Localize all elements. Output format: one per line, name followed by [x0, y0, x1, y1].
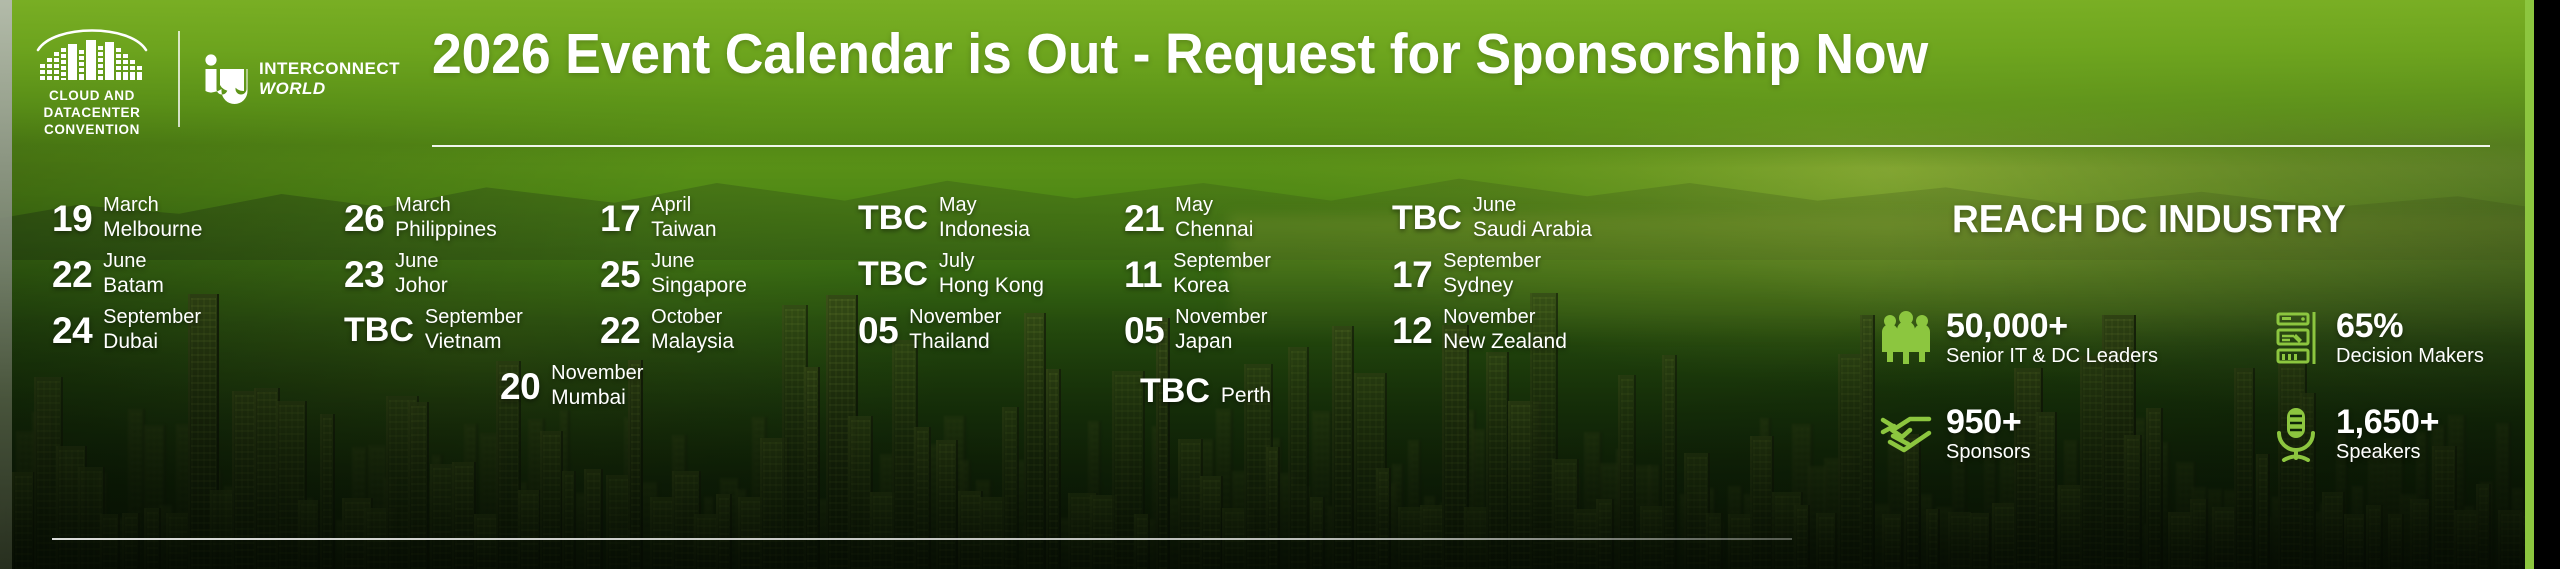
cdc-logo-line-3: CONVENTION: [44, 121, 141, 138]
event-month: June: [651, 250, 747, 274]
event-location: Korea: [1173, 274, 1271, 299]
page-title: 2026 Event Calendar is Out - Request for…: [432, 24, 2367, 84]
stat-item[interactable]: 950+Sponsors: [1880, 404, 2270, 464]
event-day: 20: [500, 368, 540, 405]
event-day: TBC: [1140, 374, 1210, 408]
event-month: July: [939, 250, 1044, 274]
stat-row: 50,000+Senior IT & DC Leaders65%Decision…: [1880, 308, 2540, 368]
event-month: April: [651, 194, 716, 218]
stat-text: 1,650+Speakers: [2336, 404, 2439, 464]
headline-underline: [432, 145, 2490, 147]
stat-value: 65%: [2336, 308, 2484, 344]
event-location: Malaysia: [651, 330, 734, 355]
event-day: 25: [600, 256, 640, 293]
event-entry[interactable]: 21MayChennai: [1124, 194, 1253, 242]
reach-heading: REACH DC INDUSTRY: [1952, 198, 2346, 242]
event-meta: JuneSaudi Arabia: [1473, 194, 1592, 242]
event-entry[interactable]: TBCPerth: [1140, 374, 1271, 409]
event-entry[interactable]: TBCMayIndonesia: [858, 194, 1030, 242]
event-entry[interactable]: 22OctoberMalaysia: [600, 306, 734, 354]
event-location: New Zealand: [1443, 330, 1567, 355]
event-day: TBC: [344, 313, 414, 347]
event-location: Perth: [1221, 384, 1271, 409]
event-meta: NovemberJapan: [1175, 306, 1267, 354]
event-meta: MayIndonesia: [939, 194, 1030, 242]
event-day: TBC: [1392, 201, 1462, 235]
event-meta: MayChennai: [1175, 194, 1253, 242]
event-month: November: [551, 362, 643, 386]
event-location: Saudi Arabia: [1473, 218, 1592, 243]
stat-label: Speakers: [2336, 440, 2439, 464]
event-month: November: [1443, 306, 1567, 330]
datacenter-skyline-icon: [32, 20, 152, 82]
event-meta: MarchMelbourne: [103, 194, 202, 242]
event-location: Hong Kong: [939, 274, 1044, 299]
event-entry[interactable]: 25JuneSingapore: [600, 250, 747, 298]
event-meta: SeptemberVietnam: [425, 306, 523, 354]
event-day: 26: [344, 200, 384, 237]
reach-stats: 50,000+Senior IT & DC Leaders65%Decision…: [1880, 308, 2540, 464]
stat-text: 65%Decision Makers: [2336, 308, 2484, 368]
people-group-icon: [1880, 310, 1932, 366]
iw-wordmark-line-1: INTERCONNECT: [259, 59, 400, 79]
cdc-logo-line-2: DATACENTER: [44, 104, 141, 121]
event-meta: OctoberMalaysia: [651, 306, 734, 354]
handshake-icon: [1880, 406, 1932, 462]
stat-row: 950+Sponsors1,650+Speakers: [1880, 404, 2540, 464]
event-month: September: [1443, 250, 1541, 274]
event-entry[interactable]: 19MarchMelbourne: [52, 194, 202, 242]
event-day: 22: [52, 256, 92, 293]
stat-value: 950+: [1946, 404, 2031, 440]
event-location: Batam: [103, 274, 164, 299]
event-month: May: [939, 194, 1030, 218]
event-month: May: [1175, 194, 1253, 218]
event-entry[interactable]: TBCJuneSaudi Arabia: [1392, 194, 1592, 242]
stat-text: 50,000+Senior IT & DC Leaders: [1946, 308, 2158, 368]
event-month: November: [909, 306, 1001, 330]
event-entry[interactable]: 23JuneJohor: [344, 250, 448, 298]
event-day: 17: [1392, 256, 1432, 293]
iw-monogram-icon: [202, 53, 248, 105]
iw-wordmark-line-2: WORLD: [259, 79, 400, 99]
event-meta: AprilTaiwan: [651, 194, 716, 242]
bottom-rule: [52, 538, 1792, 540]
event-month: March: [103, 194, 202, 218]
event-month: June: [103, 250, 164, 274]
event-meta: SeptemberKorea: [1173, 250, 1271, 298]
event-meta: SeptemberSydney: [1443, 250, 1541, 298]
event-location: Johor: [395, 274, 448, 299]
stat-label: Decision Makers: [2336, 344, 2484, 368]
interconnect-world-logo[interactable]: INTERCONNECT WORLD: [202, 53, 400, 105]
event-entry[interactable]: 05NovemberThailand: [858, 306, 1001, 354]
event-calendar-banner: CLOUD AND DATACENTER CONVENTION INTERCON…: [0, 0, 2560, 569]
event-day: 11: [1124, 256, 1162, 293]
event-day: 21: [1124, 200, 1164, 237]
server-rack-icon: [2270, 310, 2322, 366]
logo-divider: [178, 31, 180, 127]
event-meta: JuneJohor: [395, 250, 448, 298]
event-day: TBC: [858, 257, 928, 291]
headline-container: 2026 Event Calendar is Out - Request for…: [432, 24, 2490, 84]
logo-lockup: CLOUD AND DATACENTER CONVENTION INTERCON…: [28, 20, 400, 138]
stat-text: 950+Sponsors: [1946, 404, 2031, 464]
event-meta: NovemberNew Zealand: [1443, 306, 1567, 354]
event-day: TBC: [858, 201, 928, 235]
event-entry[interactable]: TBCJulyHong Kong: [858, 250, 1044, 298]
event-day: 05: [858, 312, 898, 349]
event-entry[interactable]: 12NovemberNew Zealand: [1392, 306, 1567, 354]
event-month: September: [103, 306, 201, 330]
event-month: October: [651, 306, 734, 330]
event-day: 05: [1124, 312, 1164, 349]
cdc-logo-line-1: CLOUD AND: [44, 87, 141, 104]
event-location: Philippines: [395, 218, 497, 243]
event-day: 23: [344, 256, 384, 293]
event-location: Melbourne: [103, 218, 202, 243]
event-entry[interactable]: 17SeptemberSydney: [1392, 250, 1541, 298]
event-location: Indonesia: [939, 218, 1030, 243]
event-entry[interactable]: 24SeptemberDubai: [52, 306, 201, 354]
event-meta: NovemberThailand: [909, 306, 1001, 354]
event-location: Taiwan: [651, 218, 716, 243]
stat-value: 50,000+: [1946, 308, 2158, 344]
event-month: November: [1175, 306, 1267, 330]
stat-label: Sponsors: [1946, 440, 2031, 464]
event-month: June: [395, 250, 448, 274]
cloud-datacenter-convention-logo[interactable]: CLOUD AND DATACENTER CONVENTION: [28, 20, 156, 138]
cdc-logo-wordmark: CLOUD AND DATACENTER CONVENTION: [44, 87, 141, 138]
stat-value: 1,650+: [2336, 404, 2439, 440]
event-location: Thailand: [909, 330, 1001, 355]
event-location: Mumbai: [551, 386, 643, 411]
iw-wordmark: INTERCONNECT WORLD: [259, 59, 400, 98]
event-location: Vietnam: [425, 330, 523, 355]
event-meta: JuneBatam: [103, 250, 164, 298]
event-month: June: [1473, 194, 1592, 218]
right-black-margin: [2534, 0, 2560, 569]
event-entry[interactable]: TBCSeptemberVietnam: [344, 306, 523, 354]
event-meta: NovemberMumbai: [551, 362, 643, 410]
event-entry[interactable]: 11SeptemberKorea: [1124, 250, 1271, 298]
stat-item[interactable]: 50,000+Senior IT & DC Leaders: [1880, 308, 2270, 368]
event-month: September: [1173, 250, 1271, 274]
event-meta: JulyHong Kong: [939, 250, 1044, 298]
event-entry[interactable]: 20NovemberMumbai: [500, 362, 643, 410]
stat-item[interactable]: 65%Decision Makers: [2270, 308, 2484, 368]
stat-label: Senior IT & DC Leaders: [1946, 344, 2158, 368]
event-day: 22: [600, 312, 640, 349]
event-entry[interactable]: 05NovemberJapan: [1124, 306, 1267, 354]
event-day: 19: [52, 200, 92, 237]
stat-item[interactable]: 1,650+Speakers: [2270, 404, 2439, 464]
microphone-icon: [2270, 406, 2322, 462]
event-entry[interactable]: 17AprilTaiwan: [600, 194, 717, 242]
event-location: Japan: [1175, 330, 1267, 355]
event-day: 12: [1392, 312, 1432, 349]
event-calendar-grid: 19MarchMelbourne26MarchPhilippines17Apri…: [0, 176, 1930, 516]
event-location: Chennai: [1175, 218, 1253, 243]
event-month: March: [395, 194, 497, 218]
event-entry[interactable]: 22JuneBatam: [52, 250, 164, 298]
event-month: September: [425, 306, 523, 330]
event-location: Singapore: [651, 274, 747, 299]
event-meta: JuneSingapore: [651, 250, 747, 298]
event-day: 17: [600, 200, 640, 237]
event-meta: Perth: [1221, 384, 1271, 409]
event-entry[interactable]: 26MarchPhilippines: [344, 194, 497, 242]
event-location: Dubai: [103, 330, 201, 355]
right-accent-bar: [2525, 0, 2534, 569]
event-meta: SeptemberDubai: [103, 306, 201, 354]
event-day: 24: [52, 312, 92, 349]
event-location: Sydney: [1443, 274, 1541, 299]
event-meta: MarchPhilippines: [395, 194, 497, 242]
